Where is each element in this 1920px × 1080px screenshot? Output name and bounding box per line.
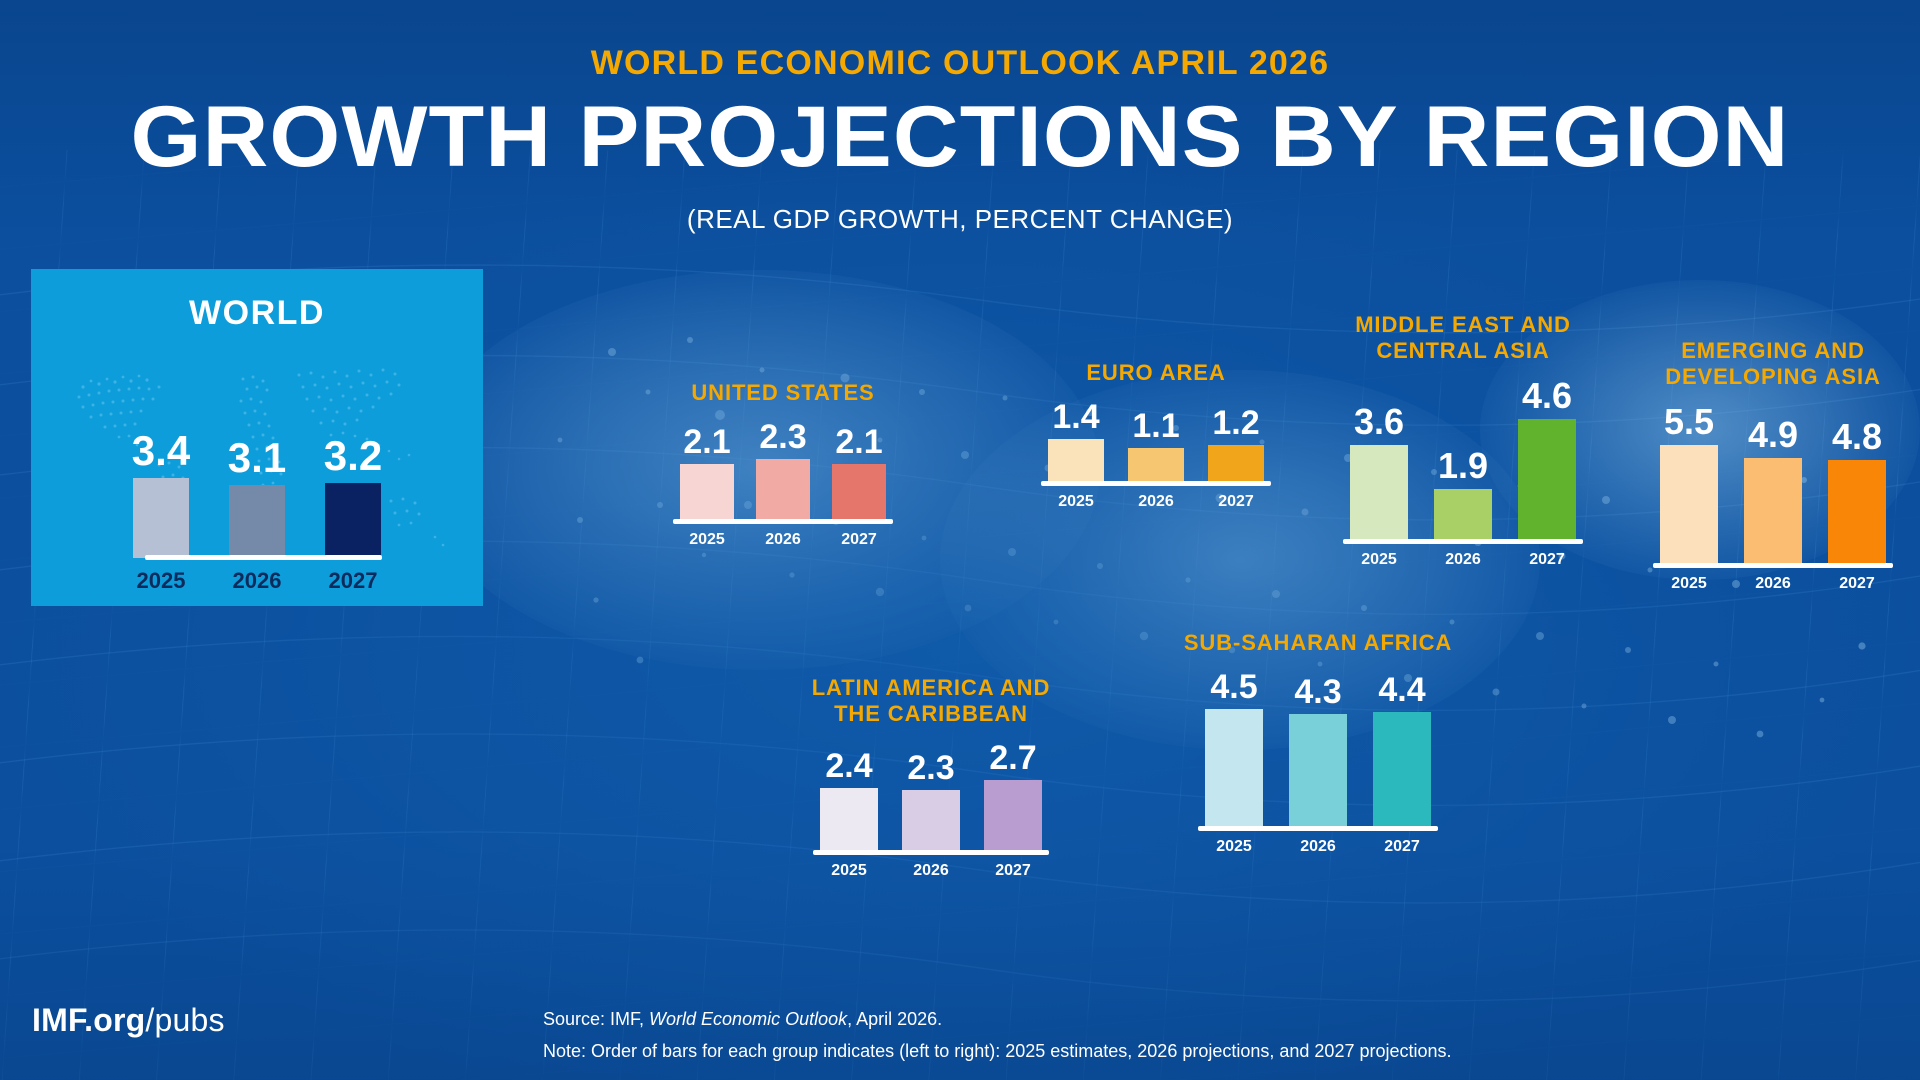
region-bar-chart: 2.42.32.7 bbox=[790, 741, 1072, 850]
world-bar-chart: 3.43.13.2 bbox=[31, 430, 483, 558]
region-bar-column: 2.1 bbox=[680, 425, 734, 519]
region-bar-value: 2.1 bbox=[683, 425, 730, 459]
region-bar-value: 2.7 bbox=[989, 741, 1036, 775]
region-bar-column: 2.4 bbox=[820, 749, 878, 850]
region-bar-column: 2.1 bbox=[832, 425, 886, 519]
region-group-title: UNITED STATES bbox=[650, 380, 916, 406]
region-year-label: 2027 bbox=[984, 862, 1042, 880]
world-bar-column: 3.2 bbox=[319, 435, 387, 558]
region-year-label: 2026 bbox=[1434, 551, 1492, 569]
region-bar bbox=[1048, 439, 1104, 481]
world-bar-value: 3.1 bbox=[228, 437, 286, 479]
region-bar bbox=[902, 790, 960, 850]
world-panel-title: WORLD bbox=[31, 294, 483, 333]
region-bar-column: 1.2 bbox=[1208, 406, 1264, 481]
world-bar-value: 3.2 bbox=[324, 435, 382, 477]
header: WORLD ECONOMIC OUTLOOK APRIL 2026 GROWTH… bbox=[0, 0, 1920, 235]
source-prefix: Source: IMF, bbox=[543, 1009, 649, 1029]
region-bar-column: 3.6 bbox=[1350, 404, 1408, 539]
world-panel: WORLD 3.43.13.2 202520262027 bbox=[31, 269, 483, 606]
source-note: Source: IMF, World Economic Outlook, Apr… bbox=[543, 1004, 1843, 1036]
region-bar bbox=[1660, 445, 1718, 563]
region-year-label: 2027 bbox=[1518, 551, 1576, 569]
region-bar-value: 2.3 bbox=[907, 751, 954, 785]
region-bar-column: 5.5 bbox=[1660, 404, 1718, 563]
region-bar-column: 2.3 bbox=[902, 751, 960, 850]
region-axis-line bbox=[1198, 826, 1438, 831]
region-bar-value: 4.9 bbox=[1748, 417, 1798, 453]
region-bar bbox=[832, 464, 886, 519]
order-note: Note: Order of bars for each group indic… bbox=[543, 1036, 1843, 1068]
region-year-label: 2027 bbox=[832, 531, 886, 549]
world-bar bbox=[325, 483, 381, 558]
region-group-emerging-and-developing-asia: EMERGING AND DEVELOPING ASIA5.54.94.8202… bbox=[1630, 338, 1916, 593]
region-bar-value: 4.3 bbox=[1294, 675, 1341, 709]
region-bar-value: 5.5 bbox=[1664, 404, 1714, 440]
world-bar-column: 3.1 bbox=[223, 437, 291, 558]
region-group-euro-area: EURO AREA1.41.11.2202520262027 bbox=[1018, 360, 1294, 511]
logo-light-text: /pubs bbox=[145, 1002, 224, 1038]
region-group-title: EURO AREA bbox=[1018, 360, 1294, 386]
world-bar-value: 3.4 bbox=[132, 430, 190, 472]
region-bar-chart: 3.61.94.6 bbox=[1320, 378, 1606, 539]
region-group-united-states: UNITED STATES2.12.32.1202520262027 bbox=[650, 380, 916, 549]
region-year-labels: 202520262027 bbox=[650, 531, 916, 549]
region-year-label: 2026 bbox=[1289, 838, 1347, 856]
region-bar-column: 4.8 bbox=[1828, 419, 1886, 563]
region-bar-value: 4.4 bbox=[1378, 673, 1425, 707]
region-bar bbox=[1828, 460, 1886, 563]
world-year-label: 2025 bbox=[127, 568, 195, 594]
region-year-label: 2025 bbox=[1660, 575, 1718, 593]
region-bar bbox=[1434, 489, 1492, 538]
region-year-label: 2026 bbox=[1744, 575, 1802, 593]
eyebrow-title: WORLD ECONOMIC OUTLOOK APRIL 2026 bbox=[0, 44, 1920, 83]
world-year-label: 2026 bbox=[223, 568, 291, 594]
region-bar-column: 2.7 bbox=[984, 741, 1042, 850]
region-group-title: LATIN AMERICA AND THE CARIBBEAN bbox=[790, 675, 1072, 727]
region-bar-column: 1.1 bbox=[1128, 409, 1184, 481]
region-bar-chart: 5.54.94.8 bbox=[1630, 404, 1916, 563]
region-bar bbox=[984, 780, 1042, 850]
region-bar-value: 4.6 bbox=[1522, 378, 1572, 414]
region-axis-line bbox=[1343, 539, 1583, 544]
region-year-labels: 202520262027 bbox=[1630, 575, 1916, 593]
region-axis-line bbox=[1041, 481, 1271, 486]
region-bar-chart: 4.54.34.4 bbox=[1175, 670, 1461, 826]
region-bar-column: 4.9 bbox=[1744, 417, 1802, 563]
world-axis-line bbox=[145, 555, 382, 560]
region-year-label: 2027 bbox=[1208, 493, 1264, 511]
region-bar-value: 1.4 bbox=[1052, 400, 1099, 434]
region-bar-value: 2.3 bbox=[759, 420, 806, 454]
region-bar bbox=[1744, 458, 1802, 563]
region-bar bbox=[680, 464, 734, 519]
region-bar-value: 1.1 bbox=[1132, 409, 1179, 443]
region-bar bbox=[756, 459, 810, 519]
region-year-labels: 202520262027 bbox=[1018, 493, 1294, 511]
region-year-labels: 202520262027 bbox=[790, 862, 1072, 880]
page-subtitle: (REAL GDP GROWTH, PERCENT CHANGE) bbox=[0, 204, 1920, 235]
region-group-title: MIDDLE EAST AND CENTRAL ASIA bbox=[1320, 312, 1606, 364]
region-year-labels: 202520262027 bbox=[1320, 551, 1606, 569]
region-year-label: 2026 bbox=[756, 531, 810, 549]
region-year-label: 2026 bbox=[902, 862, 960, 880]
region-year-label: 2025 bbox=[680, 531, 734, 549]
world-bar bbox=[133, 478, 189, 558]
source-suffix: , April 2026. bbox=[847, 1009, 942, 1029]
region-bar-chart: 2.12.32.1 bbox=[650, 420, 916, 519]
region-bar-column: 4.5 bbox=[1205, 670, 1263, 826]
region-year-label: 2025 bbox=[1048, 493, 1104, 511]
region-bar-value: 1.2 bbox=[1212, 406, 1259, 440]
region-axis-line bbox=[1653, 563, 1893, 568]
region-bar-column: 4.6 bbox=[1518, 378, 1576, 539]
region-bar-column: 4.4 bbox=[1373, 673, 1431, 826]
region-bar bbox=[1350, 445, 1408, 539]
region-bar-value: 1.9 bbox=[1438, 448, 1488, 484]
world-bar-column: 3.4 bbox=[127, 430, 195, 558]
region-year-label: 2026 bbox=[1128, 493, 1184, 511]
region-bar-column: 2.3 bbox=[756, 420, 810, 519]
region-bar bbox=[820, 788, 878, 850]
source-publication-title: World Economic Outlook bbox=[649, 1009, 847, 1029]
region-bar-chart: 1.41.11.2 bbox=[1018, 400, 1294, 481]
page-title: GROWTH PROJECTIONS BY REGION bbox=[0, 93, 1920, 182]
imf-logo[interactable]: IMF.org/pubs bbox=[32, 1002, 225, 1039]
footnotes: Source: IMF, World Economic Outlook, Apr… bbox=[543, 1004, 1843, 1067]
region-axis-line bbox=[813, 850, 1049, 855]
world-bar bbox=[229, 485, 285, 558]
region-group-latin-america-and-the-caribbean: LATIN AMERICA AND THE CARIBBEAN2.42.32.7… bbox=[790, 675, 1072, 880]
region-year-label: 2025 bbox=[1205, 838, 1263, 856]
region-year-label: 2025 bbox=[820, 862, 878, 880]
region-year-label: 2025 bbox=[1350, 551, 1408, 569]
region-axis-line bbox=[673, 519, 893, 524]
region-bar-value: 4.8 bbox=[1832, 419, 1882, 455]
region-bar bbox=[1373, 712, 1431, 826]
region-group-title: SUB-SAHARAN AFRICA bbox=[1175, 630, 1461, 656]
region-bar bbox=[1518, 419, 1576, 539]
region-bar bbox=[1128, 448, 1184, 481]
region-year-labels: 202520262027 bbox=[1175, 838, 1461, 856]
world-year-label: 2027 bbox=[319, 568, 387, 594]
region-bar-value: 2.1 bbox=[835, 425, 882, 459]
region-bar bbox=[1208, 445, 1264, 481]
region-bar-value: 3.6 bbox=[1354, 404, 1404, 440]
world-year-labels: 202520262027 bbox=[31, 568, 483, 594]
region-bar-value: 2.4 bbox=[825, 749, 872, 783]
region-year-label: 2027 bbox=[1373, 838, 1431, 856]
region-group-sub-saharan-africa: SUB-SAHARAN AFRICA4.54.34.4202520262027 bbox=[1175, 630, 1461, 856]
region-bar bbox=[1289, 714, 1347, 826]
region-year-label: 2027 bbox=[1828, 575, 1886, 593]
region-bar-value: 4.5 bbox=[1210, 670, 1257, 704]
region-bar-column: 1.4 bbox=[1048, 400, 1104, 481]
logo-bold-text: IMF.org bbox=[32, 1002, 145, 1038]
region-bar bbox=[1205, 709, 1263, 826]
region-group-title: EMERGING AND DEVELOPING ASIA bbox=[1630, 338, 1916, 390]
region-bar-column: 4.3 bbox=[1289, 675, 1347, 826]
region-group-middle-east-and-central-asia: MIDDLE EAST AND CENTRAL ASIA3.61.94.6202… bbox=[1320, 312, 1606, 569]
region-bar-column: 1.9 bbox=[1434, 448, 1492, 538]
